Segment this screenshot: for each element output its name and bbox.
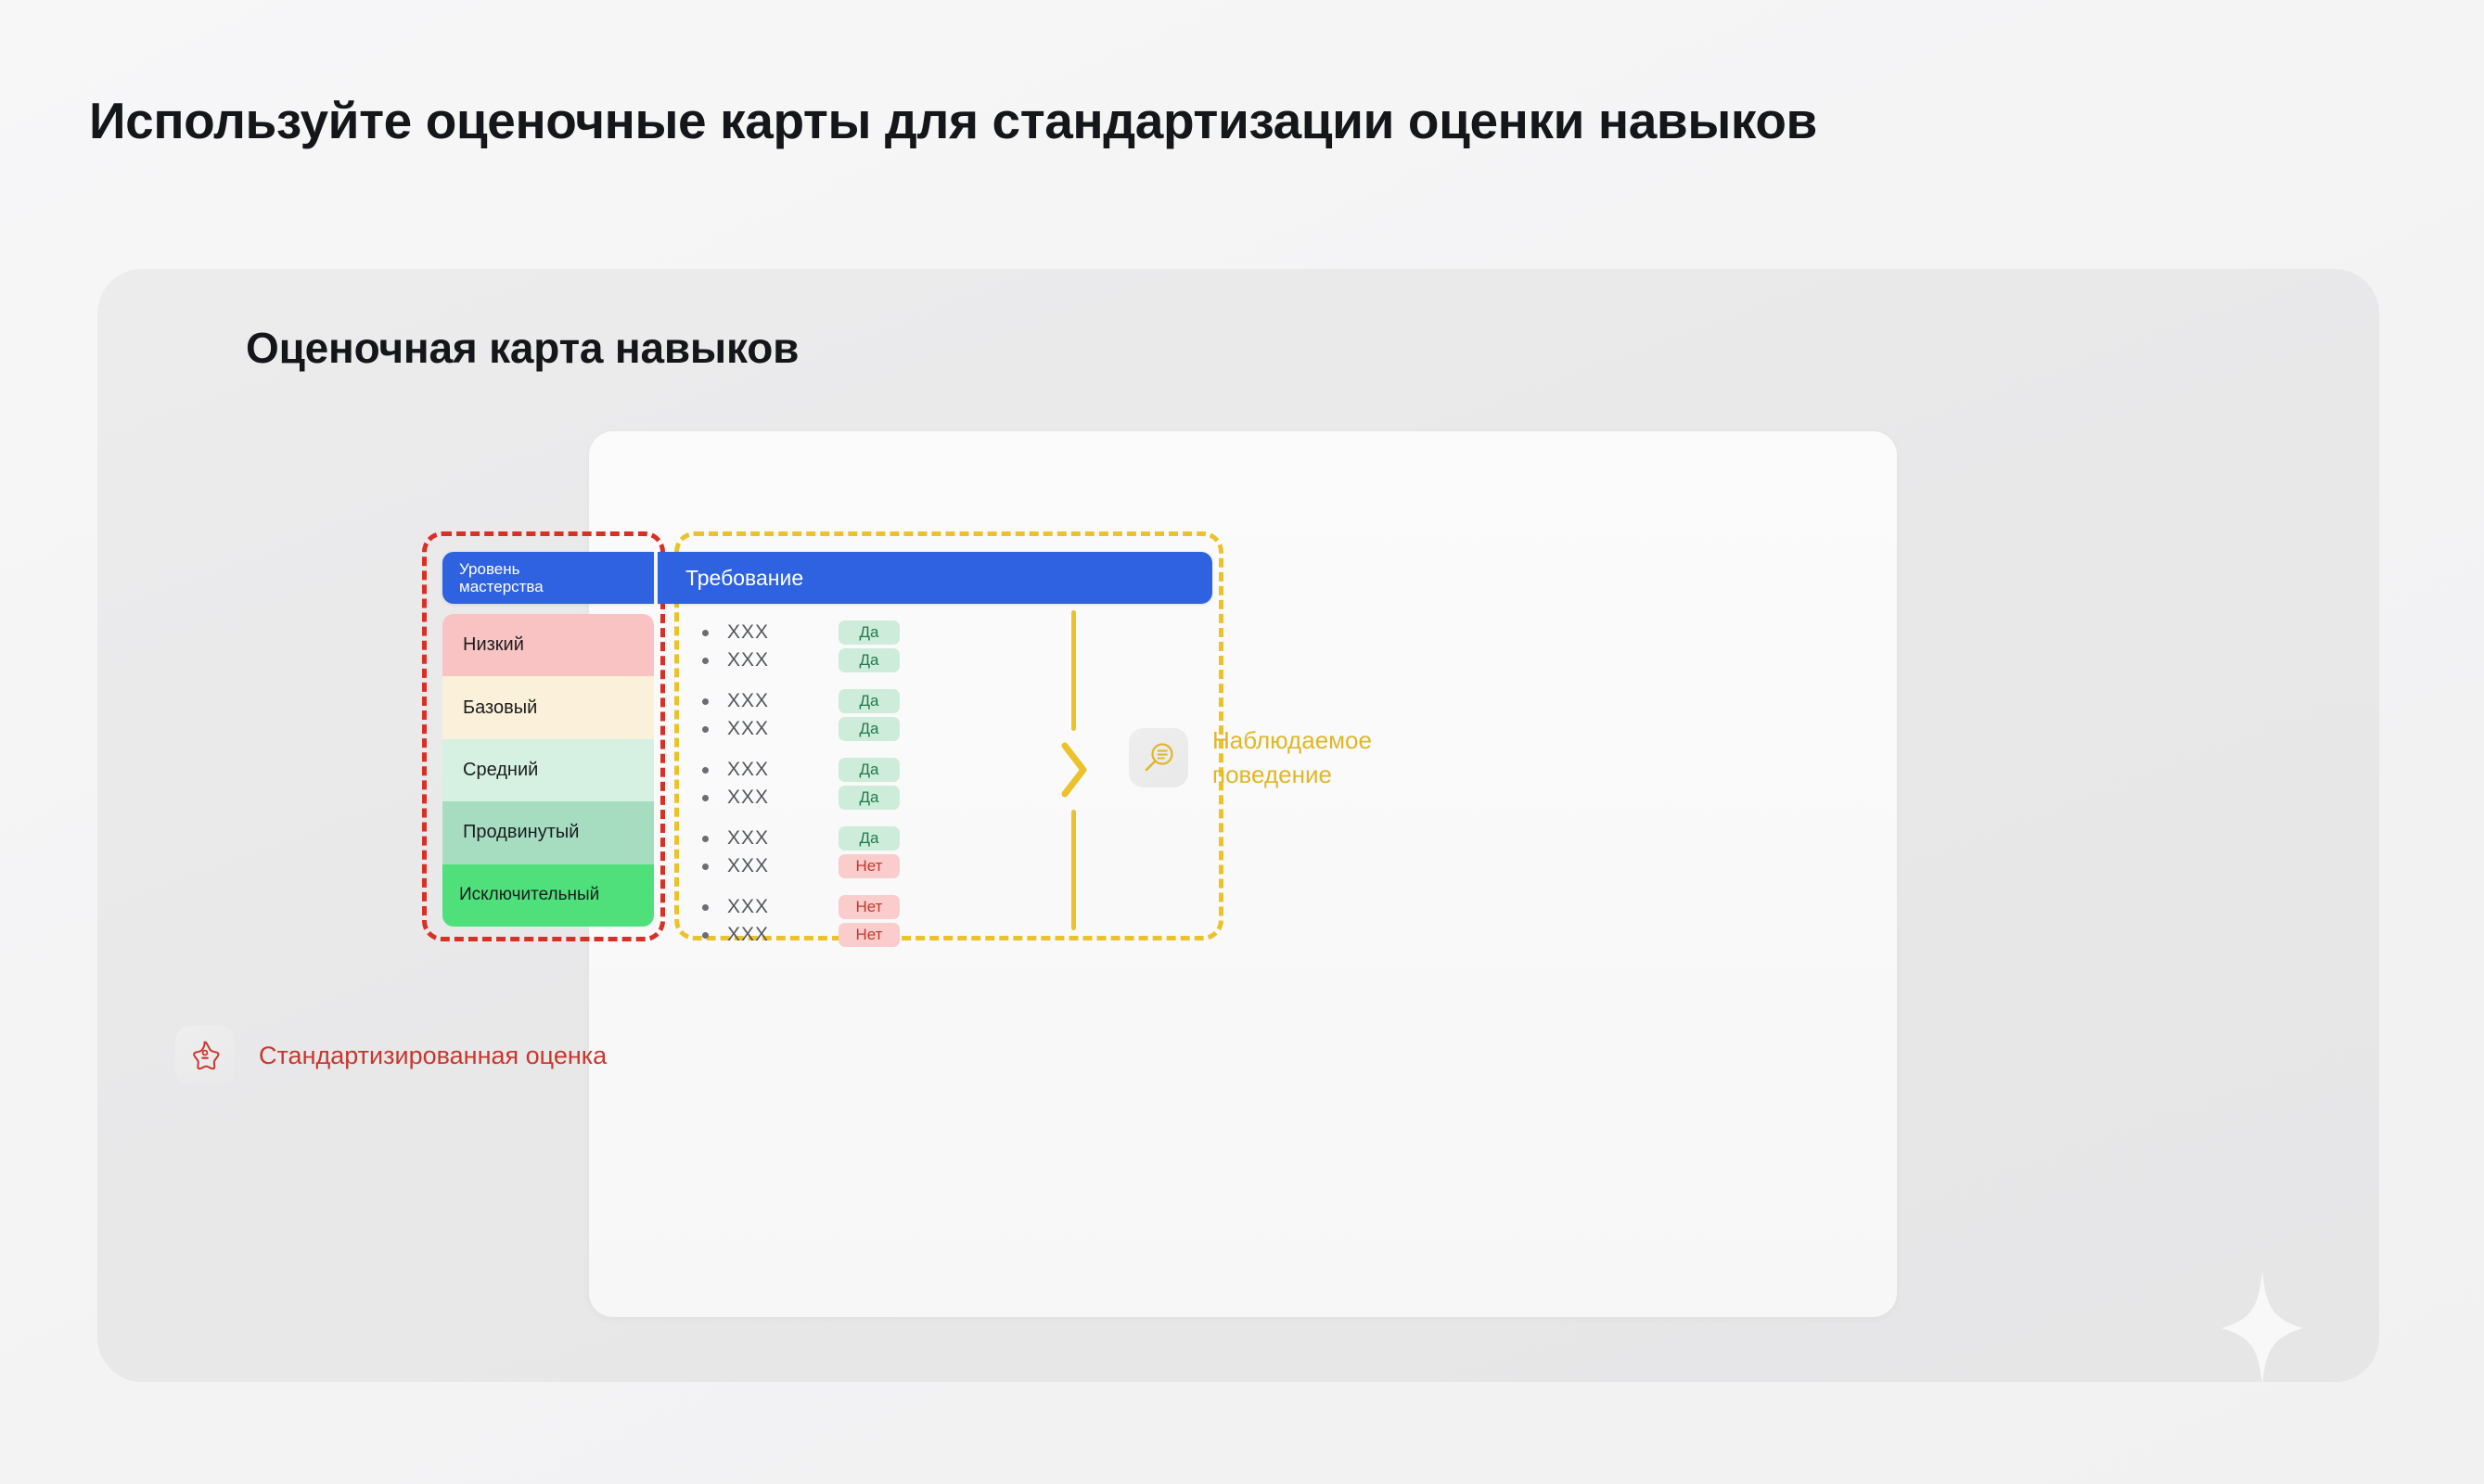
scorecard-table: Уровень мастерства Требование Низкий Баз… xyxy=(442,552,1212,927)
requirement-list: XXX Да XXX Да XXX Да xyxy=(654,614,1212,927)
level-chip-low[interactable]: Низкий xyxy=(442,614,654,676)
column-header-level-line1: Уровень xyxy=(459,560,544,578)
answer-badge-yes: Да xyxy=(839,758,900,782)
bullet-icon xyxy=(702,864,709,870)
table-body-row: Низкий Базовый Средний Продвинутый Исклю… xyxy=(442,614,1212,927)
requirement-text: XXX xyxy=(727,718,839,740)
requirement-text: XXX xyxy=(727,649,839,672)
star-award-icon xyxy=(188,1039,222,1072)
answer-badge-no: Нет xyxy=(839,895,900,919)
answer-badge-yes: Да xyxy=(839,648,900,672)
sparkle-icon xyxy=(2218,1265,2307,1382)
answer-badge-yes: Да xyxy=(839,717,900,741)
requirement-text: XXX xyxy=(727,690,839,712)
bullet-icon xyxy=(702,767,709,774)
table-header-row: Уровень мастерства Требование xyxy=(442,552,1212,604)
chevron-right-icon xyxy=(1058,740,1090,800)
answer-badge-yes: Да xyxy=(839,786,900,810)
requirement-text: XXX xyxy=(727,896,839,918)
requirement-text: XXX xyxy=(727,924,839,946)
magnifier-list-icon xyxy=(1141,740,1176,775)
requirement-text: XXX xyxy=(727,827,839,850)
column-header-level: Уровень мастерства xyxy=(442,552,654,604)
column-header-level-line2: мастерства xyxy=(459,578,544,595)
observable-behavior-line2: поведение xyxy=(1212,758,1372,792)
bullet-icon xyxy=(702,836,709,842)
requirement-text: XXX xyxy=(727,621,839,644)
magnifier-list-icon-tile xyxy=(1129,728,1188,787)
requirement-text: XXX xyxy=(727,759,839,781)
requirement-group: XXX Да XXX Нет xyxy=(702,825,1212,879)
requirement-row: XXX Да xyxy=(702,647,1212,673)
requirement-row: XXX Нет xyxy=(702,894,1212,920)
observable-behavior-text: Наблюдаемое поведение xyxy=(1212,723,1372,792)
bullet-icon xyxy=(702,795,709,801)
divider-line-bottom xyxy=(1071,810,1076,930)
requirement-row: XXX Да xyxy=(702,620,1212,646)
observable-behavior-line1: Наблюдаемое xyxy=(1212,723,1372,758)
level-chip-intermediate[interactable]: Средний xyxy=(442,739,654,801)
requirement-group: XXX Нет XXX Нет xyxy=(702,894,1212,948)
bullet-icon xyxy=(702,658,709,664)
requirement-row: XXX Нет xyxy=(702,922,1212,948)
requirement-text: XXX xyxy=(727,787,839,809)
bullet-icon xyxy=(702,630,709,636)
answer-badge-no: Нет xyxy=(839,854,900,878)
star-award-icon-tile xyxy=(175,1026,235,1085)
standardized-score-callout: Стандартизированная оценка xyxy=(175,1026,607,1085)
requirement-group: XXX Да XXX Да xyxy=(702,620,1212,673)
requirement-row: XXX Да xyxy=(702,688,1212,714)
answer-badge-no: Нет xyxy=(839,923,900,947)
level-chip-exceptional[interactable]: Исключительный xyxy=(442,864,654,927)
observable-behavior-callout: Наблюдаемое поведение xyxy=(1129,723,1372,792)
bullet-icon xyxy=(702,904,709,911)
divider-line-top xyxy=(1071,610,1076,731)
bullet-icon xyxy=(702,932,709,939)
answer-badge-yes: Да xyxy=(839,689,900,713)
requirement-divider xyxy=(1055,610,1092,930)
requirement-row: XXX Нет xyxy=(702,853,1212,879)
standardized-score-text: Стандартизированная оценка xyxy=(259,1042,607,1070)
page-title: Используйте оценочные карты для стандарт… xyxy=(89,91,1817,150)
page-root: Используйте оценочные карты для стандарт… xyxy=(0,0,2484,1484)
requirement-text: XXX xyxy=(727,855,839,877)
answer-badge-yes: Да xyxy=(839,826,900,851)
answer-badge-yes: Да xyxy=(839,620,900,645)
bullet-icon xyxy=(702,726,709,733)
card-heading: Оценочная карта навыков xyxy=(246,323,799,373)
level-chip-advanced[interactable]: Продвинутый xyxy=(442,801,654,864)
requirement-row: XXX Да xyxy=(702,825,1212,851)
column-header-requirement: Требование xyxy=(658,552,1212,604)
level-chip-basic[interactable]: Базовый xyxy=(442,676,654,738)
bullet-icon xyxy=(702,698,709,705)
scorecard-outer-card: Оценочная карта навыков Уровень мастерст… xyxy=(97,269,2379,1382)
proficiency-level-list: Низкий Базовый Средний Продвинутый Исклю… xyxy=(442,614,654,927)
